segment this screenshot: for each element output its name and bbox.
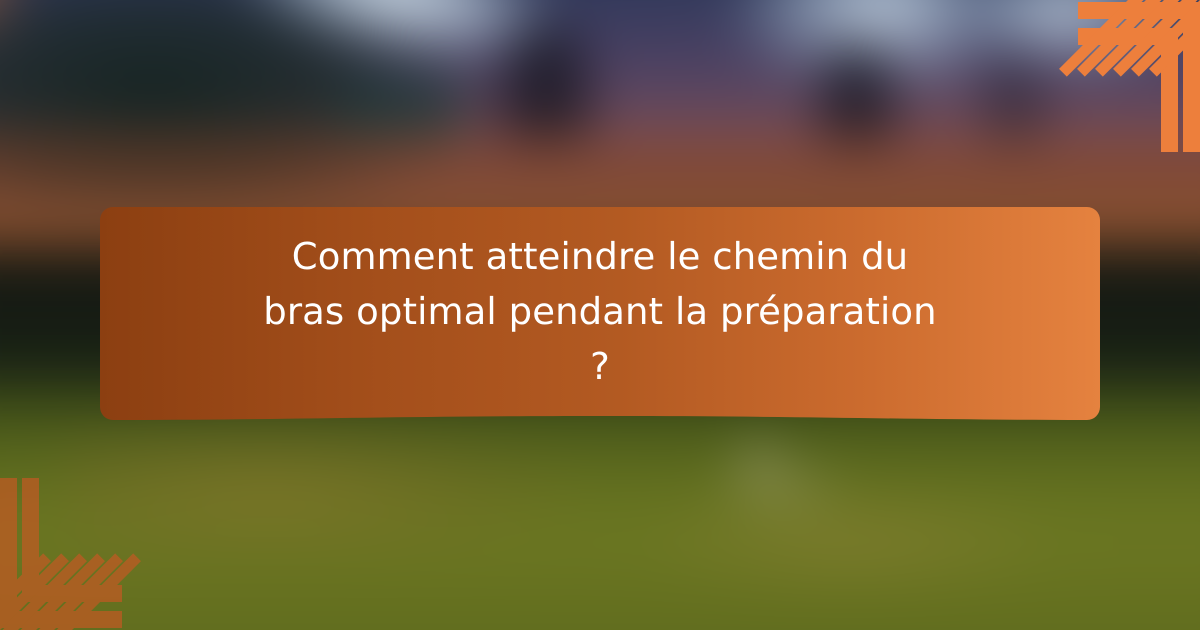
player-silhouette	[746, 440, 772, 474]
corner-stripes-top-right-icon	[1040, 0, 1200, 152]
screenshot-root: Comment atteindre le chemin du bras opti…	[0, 0, 1200, 630]
page-title: Comment atteindre le chemin du bras opti…	[260, 229, 940, 394]
question-card: Comment atteindre le chemin du bras opti…	[100, 207, 1100, 422]
field-light-spot	[710, 460, 850, 510]
grass-highlight-right	[640, 480, 1060, 600]
corner-stripes-bottom-left-icon	[0, 478, 160, 630]
light-tower-silhouette-right	[820, 44, 894, 144]
tower-silhouette-far-right	[984, 58, 1044, 144]
light-tower-silhouette-left	[500, 26, 590, 142]
question-card-content: Comment atteindre le chemin du bras opti…	[100, 207, 1100, 422]
stadium-structure-silhouette	[338, 80, 466, 144]
crowd-haze-band	[0, 136, 1200, 216]
